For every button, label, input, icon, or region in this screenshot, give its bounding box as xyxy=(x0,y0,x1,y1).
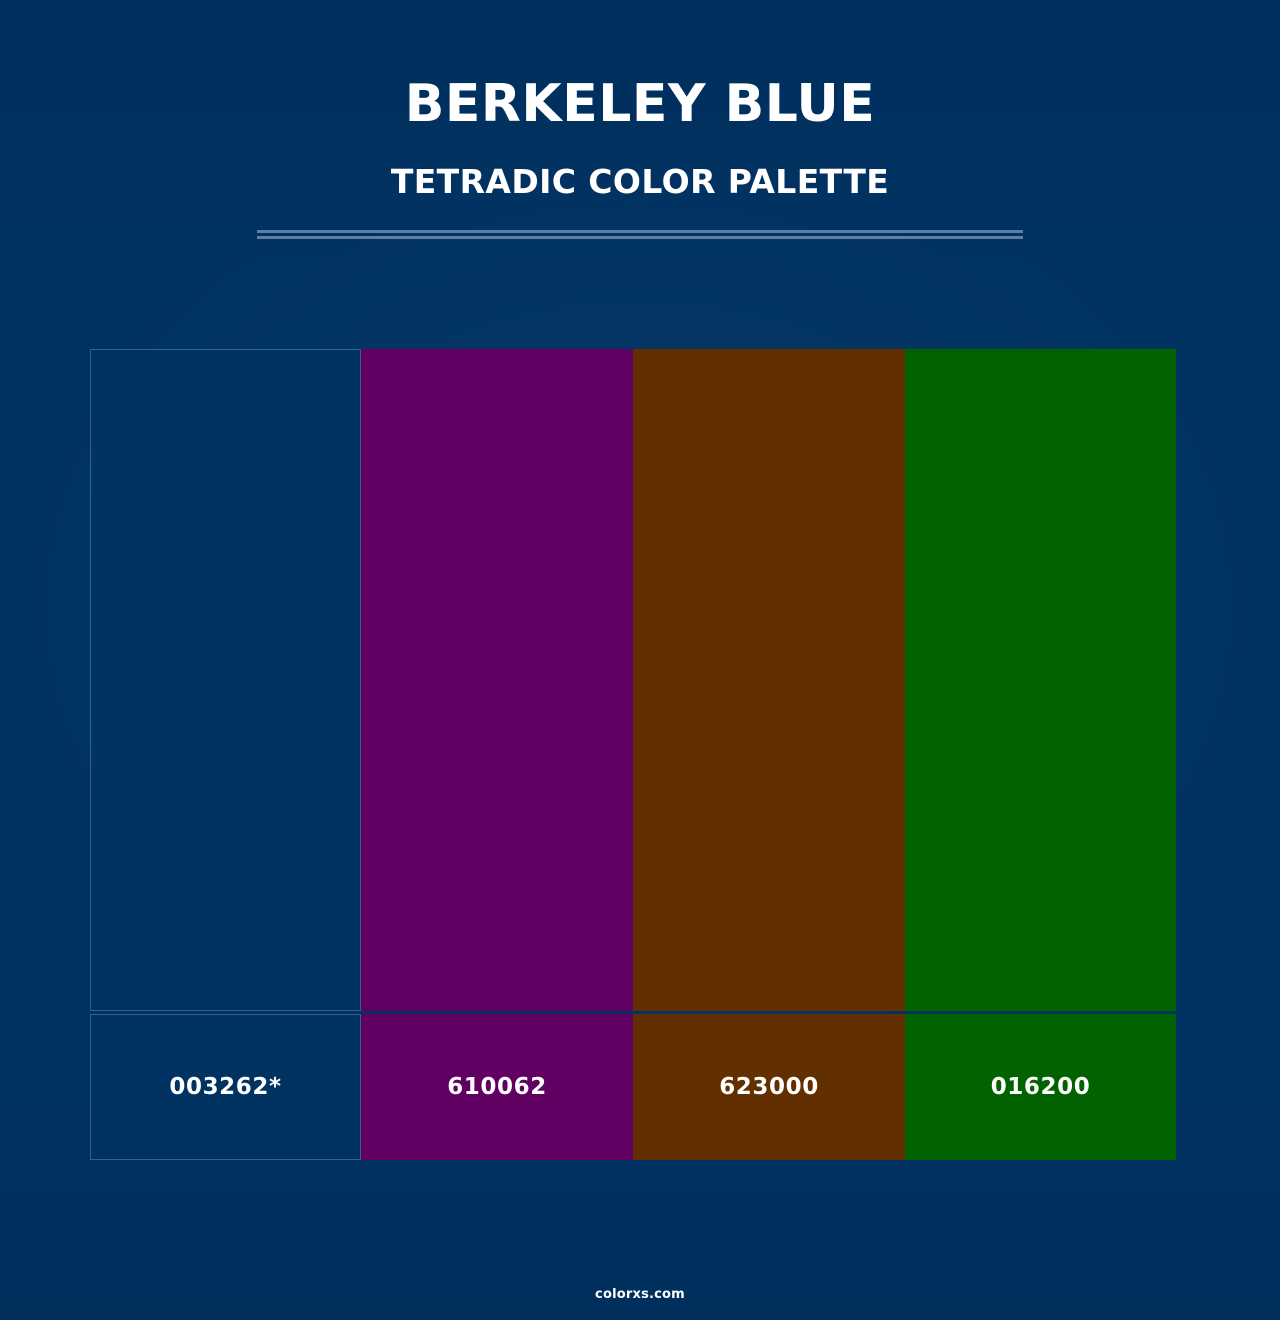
page-footer: colorxs.com xyxy=(0,1283,1280,1302)
header-divider xyxy=(257,230,1023,239)
color-label-cell-2[interactable]: 623000 xyxy=(633,1014,905,1160)
page-header: BERKELEY BLUE TETRADIC COLOR PALETTE xyxy=(0,0,1280,202)
hex-code-label-2: 623000 xyxy=(719,1074,819,1100)
color-label-cell-3[interactable]: 016200 xyxy=(905,1014,1176,1160)
divider-line-top xyxy=(257,230,1023,233)
hex-code-label-0: 003262* xyxy=(169,1074,281,1100)
color-swatch-1[interactable] xyxy=(361,349,633,1011)
hex-code-label-1: 610062 xyxy=(447,1074,547,1100)
hex-code-label-3: 016200 xyxy=(991,1074,1091,1100)
color-swatch-3[interactable] xyxy=(905,349,1176,1011)
swatch-label-row: 003262* 610062 623000 016200 xyxy=(90,1014,1176,1160)
palette-page: BERKELEY BLUE TETRADIC COLOR PALETTE 003… xyxy=(0,0,1280,1320)
color-palette: 003262* 610062 623000 016200 xyxy=(90,349,1176,1160)
page-title: BERKELEY BLUE xyxy=(0,0,1280,134)
site-watermark: colorxs.com xyxy=(595,1287,685,1302)
swatch-row xyxy=(90,349,1176,1011)
color-label-cell-0[interactable]: 003262* xyxy=(90,1014,361,1160)
color-label-cell-1[interactable]: 610062 xyxy=(361,1014,633,1160)
divider-line-bottom xyxy=(257,236,1023,239)
page-subtitle: TETRADIC COLOR PALETTE xyxy=(0,134,1280,202)
color-swatch-0[interactable] xyxy=(90,349,361,1011)
color-swatch-2[interactable] xyxy=(633,349,905,1011)
